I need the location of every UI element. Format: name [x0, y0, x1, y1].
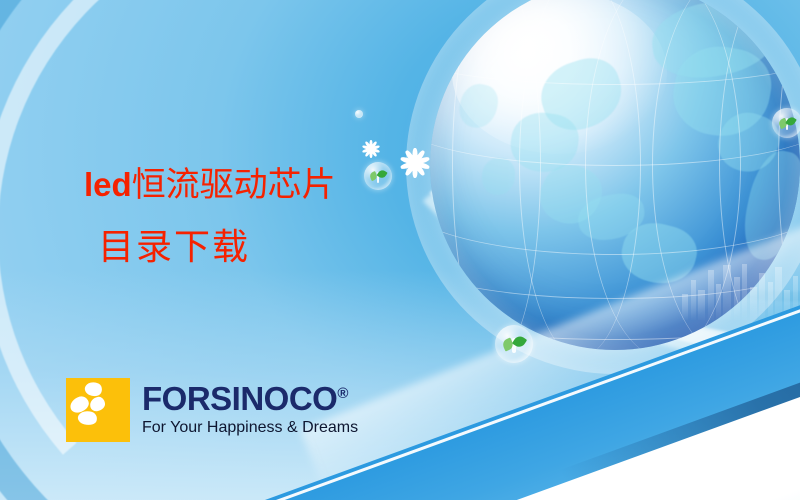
headline-block: led恒流驱动芯片 目录下载 — [84, 163, 336, 270]
logo-petal — [83, 379, 104, 398]
brand-logo[interactable]: FORSINOCO® For Your Happiness & Dreams — [66, 378, 358, 442]
eco-bubble-top-icon — [364, 162, 392, 190]
forsinoco-pinwheel-mark — [66, 378, 130, 442]
eco-bubble-right-icon — [772, 108, 800, 138]
headline-line-2: 目录下载 — [98, 224, 336, 270]
brand-word: FORSINOCO — [142, 380, 337, 417]
registered-trademark-icon: ® — [337, 385, 348, 402]
eco-bubble-tiny-icon — [355, 110, 363, 118]
headline-cjk-text: 恒流驱动芯片 — [132, 167, 336, 204]
headline-latin-word: led — [84, 166, 132, 203]
logo-text-block: FORSINOCO® For Your Happiness & Dreams — [142, 378, 358, 437]
globe-latitude-line — [430, 272, 800, 340]
eco-bubble-mid-icon — [495, 325, 533, 363]
promo-banner: led恒流驱动芯片 目录下载 FORSINOCO® For Your Happi… — [0, 0, 800, 500]
brand-tagline: For Your Happiness & Dreams — [142, 418, 358, 437]
earth-globe-graphic — [430, 0, 800, 350]
brand-name: FORSINOCO® — [142, 382, 358, 416]
globe-sphere — [430, 0, 800, 350]
globe-landmass — [482, 158, 515, 195]
globe-landmass — [455, 80, 500, 131]
logo-petal — [89, 396, 107, 413]
headline-line-1: led恒流驱动芯片 — [84, 163, 336, 208]
